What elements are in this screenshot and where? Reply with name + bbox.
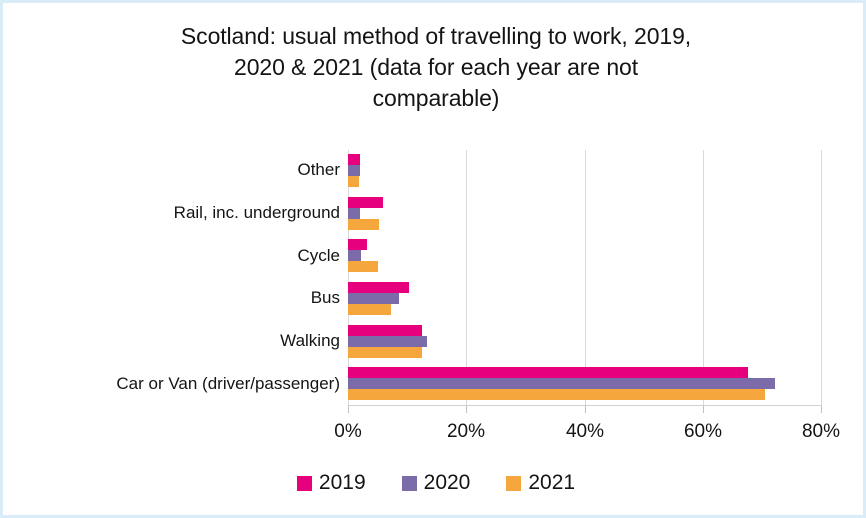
bar-2020-cycle xyxy=(348,250,361,261)
bar-2021-car-or-van-driver-passenger xyxy=(348,389,765,400)
bar-2021-bus xyxy=(348,304,391,315)
chart-title: Scotland: usual method of travelling to … xyxy=(63,21,809,114)
bar-2021-other xyxy=(348,176,359,187)
bar-2019-bus xyxy=(348,282,409,293)
bar-2020-walking xyxy=(348,336,427,347)
category-label: Bus xyxy=(5,288,340,308)
legend-label: 2019 xyxy=(319,471,366,495)
bar-group xyxy=(348,321,821,364)
legend-label: 2021 xyxy=(528,471,575,495)
chart-frame: Scotland: usual method of travelling to … xyxy=(0,0,866,518)
bar-2020-rail-inc-underground xyxy=(348,208,360,219)
x-tick-mark xyxy=(703,406,704,413)
bar-2020-car-or-van-driver-passenger xyxy=(348,378,775,389)
bar-2021-rail-inc-underground xyxy=(348,219,379,230)
legend-swatch-icon xyxy=(506,476,521,491)
gridline xyxy=(821,150,822,406)
category-label: Cycle xyxy=(5,246,340,266)
bar-2021-cycle xyxy=(348,261,378,272)
bar-group xyxy=(348,235,821,278)
category-axis-labels: OtherRail, inc. undergroundCycleBusWalki… xyxy=(3,150,340,406)
x-tick-mark xyxy=(821,406,822,413)
bar-2019-other xyxy=(348,154,360,165)
bar-2020-other xyxy=(348,165,360,176)
bar-2019-cycle xyxy=(348,239,367,250)
x-tick-label: 20% xyxy=(431,421,501,443)
category-label: Walking xyxy=(5,331,340,351)
x-tick-label: 0% xyxy=(313,421,383,443)
plot-area xyxy=(348,150,821,406)
bar-2019-walking xyxy=(348,325,422,336)
x-tick-label: 40% xyxy=(550,421,620,443)
bar-group xyxy=(348,363,821,406)
bar-2019-car-or-van-driver-passenger xyxy=(348,367,748,378)
legend-item-2021[interactable]: 2021 xyxy=(506,471,575,495)
bar-2019-rail-inc-underground xyxy=(348,197,383,208)
bar-2020-bus xyxy=(348,293,399,304)
bar-2021-walking xyxy=(348,347,422,358)
x-tick-label: 60% xyxy=(668,421,738,443)
legend-item-2020[interactable]: 2020 xyxy=(402,471,471,495)
chart-legend: 201920202021 xyxy=(3,471,866,495)
legend-label: 2020 xyxy=(424,471,471,495)
category-label: Rail, inc. underground xyxy=(5,203,340,223)
category-label: Car or Van (driver/passenger) xyxy=(5,374,340,394)
legend-swatch-icon xyxy=(402,476,417,491)
bar-group xyxy=(348,193,821,236)
x-tick-mark xyxy=(466,406,467,413)
bar-group xyxy=(348,150,821,193)
x-tick-mark xyxy=(348,406,349,413)
category-label: Other xyxy=(5,160,340,180)
bar-group xyxy=(348,278,821,321)
legend-item-2019[interactable]: 2019 xyxy=(297,471,366,495)
legend-swatch-icon xyxy=(297,476,312,491)
x-tick-mark xyxy=(585,406,586,413)
x-tick-label: 80% xyxy=(786,421,856,443)
